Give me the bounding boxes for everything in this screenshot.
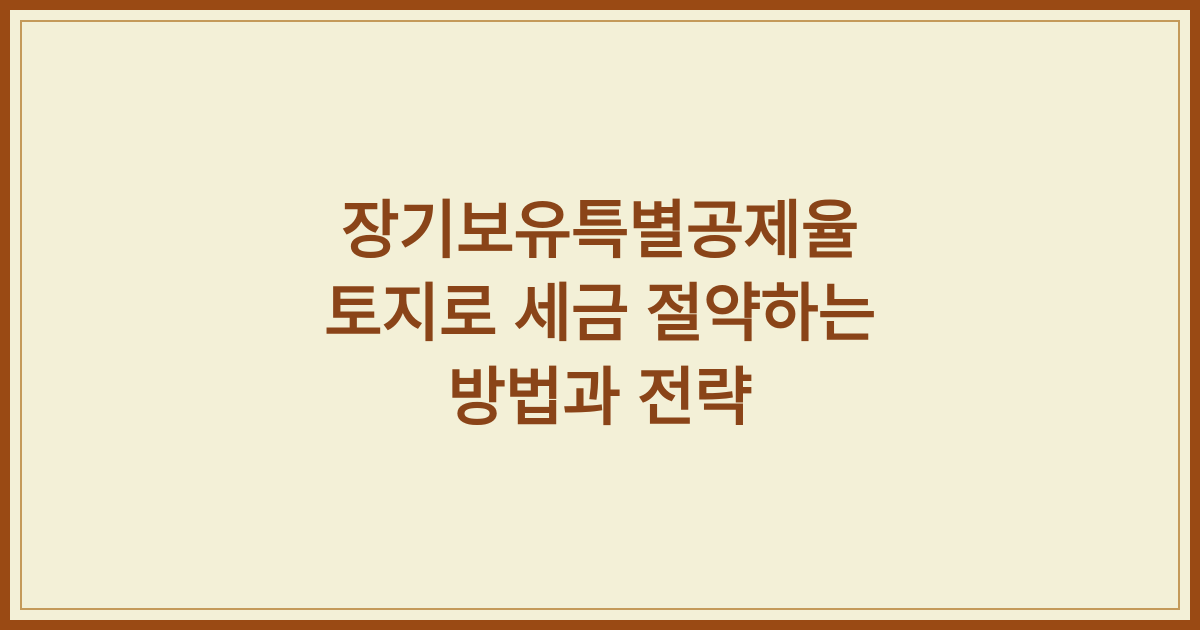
title-block: 장기보유특별공제율 토지로 세금 절약하는 방법과 전략 (10, 190, 1190, 439)
page-title: 장기보유특별공제율 토지로 세금 절약하는 방법과 전략 (70, 190, 1130, 439)
thumbnail-card: 장기보유특별공제율 토지로 세금 절약하는 방법과 전략 (0, 0, 1200, 630)
